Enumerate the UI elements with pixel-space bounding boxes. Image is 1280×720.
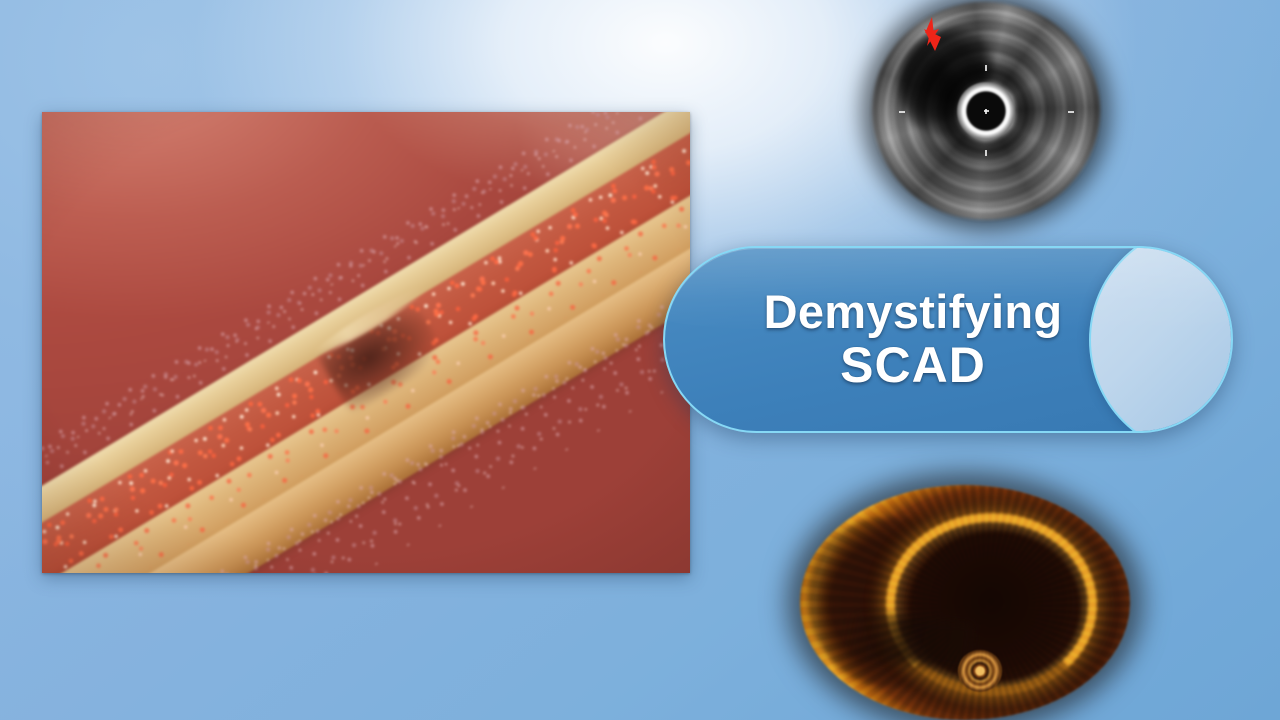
- artery-photo-vignette: [42, 112, 690, 573]
- ivus-cross-section: [872, 2, 1100, 220]
- ivus-scale-tick-north: [985, 65, 987, 71]
- ivus-scale-tick-south: [985, 150, 987, 156]
- oct-cross-section: [800, 485, 1130, 720]
- coronary-artery-dissection-illustration: [42, 112, 690, 573]
- slide-canvas: Demystifying SCAD: [0, 0, 1280, 720]
- slide-title-line-1: Demystifying: [764, 287, 1063, 337]
- oct-radial-texture: [800, 485, 1130, 720]
- ivus-scale-tick-west: [899, 111, 905, 113]
- ivus-scale-tick-east: [1068, 111, 1074, 113]
- slide-title-line-2: SCAD: [840, 339, 986, 392]
- slide-title: Demystifying SCAD: [717, 248, 1109, 431]
- title-banner: Demystifying SCAD: [663, 246, 1233, 433]
- ivus-center-marker-vertical: [985, 109, 987, 114]
- red-arrow-icon: [915, 15, 949, 55]
- banner-concave-notch: [1089, 246, 1233, 433]
